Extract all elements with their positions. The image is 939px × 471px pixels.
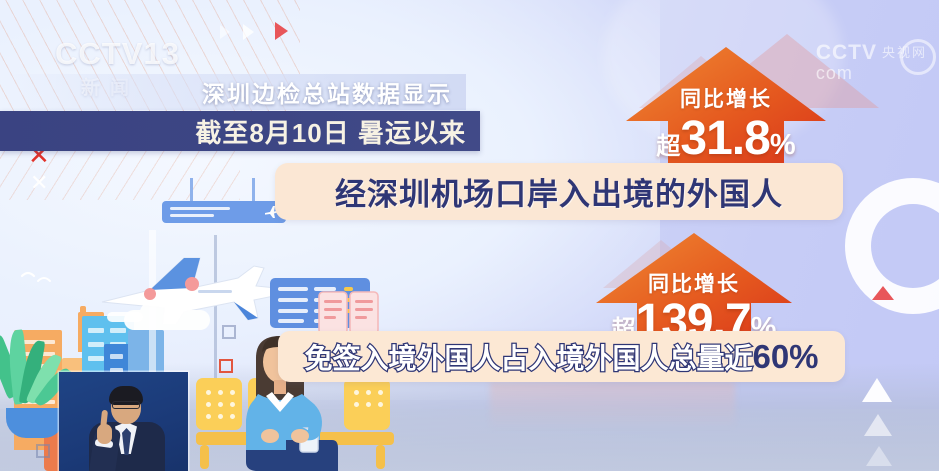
sign-post-left xyxy=(190,178,193,202)
square-decoration-red xyxy=(219,359,233,373)
cctv-logo-text: CCTV13 xyxy=(55,38,235,69)
period-title-text: 截至8月10日 暑运以来 xyxy=(195,113,466,150)
stat-arrow-1: 同比增长 超 31.8 % xyxy=(626,47,826,169)
stat-arrow-2-label: 同比增长 xyxy=(648,268,740,298)
stat-arrow-1-label: 同比增长 xyxy=(680,83,772,113)
watermark-ring-icon xyxy=(900,39,936,75)
summary-banner-number: 60% xyxy=(752,338,818,376)
news-anchor-inset xyxy=(59,372,188,471)
triangle-white-up-icon-2 xyxy=(864,414,892,436)
sign-post-right xyxy=(252,178,255,202)
stat-arrow-1-number: 31.8 xyxy=(680,115,769,163)
stat-arrow-1-value: 超 31.8 % xyxy=(656,115,795,163)
source-title-band: 深圳边检总站数据显示 xyxy=(0,74,466,110)
seat-leg xyxy=(376,445,385,469)
x-mark-white-icon: ✕ xyxy=(30,172,48,194)
source-title-text: 深圳边检总站数据显示 xyxy=(202,75,452,109)
headline-box: 经深圳机场口岸入出境的外国人 xyxy=(275,163,843,220)
triangle-white-up-icon xyxy=(862,378,892,402)
triangle-white-up-icon-3 xyxy=(866,446,892,466)
cloud-small xyxy=(107,312,143,322)
triangle-white-right-icon xyxy=(243,24,254,40)
triangle-red-right-icon xyxy=(275,22,288,40)
stat-arrow-1-labels: 同比增长 超 31.8 % xyxy=(626,47,826,169)
cctv-wordmark: CCTV xyxy=(55,36,143,71)
channel-number: 13 xyxy=(143,38,179,69)
plant-pot xyxy=(6,408,64,438)
period-title-band: 截至8月10日 暑运以来 xyxy=(0,111,480,151)
sign-text-line xyxy=(170,214,214,217)
square-decoration xyxy=(222,325,236,339)
sign-text-line xyxy=(170,207,230,210)
triangle-white-right-icon-2 xyxy=(220,25,230,39)
airport-sign xyxy=(162,201,286,223)
seat-back xyxy=(344,378,390,430)
triangle-red-up-icon xyxy=(872,286,894,300)
broadcast-graphic: ✕ ✕ CCTV13 新闻 CCTV com 央视网 深圳边检总站数据显示 截至… xyxy=(0,0,939,471)
summary-banner-text: 免签入境外国人占入境外国人总量近 xyxy=(304,337,752,377)
headline-text: 经深圳机场口岸入出境的外国人 xyxy=(335,169,783,214)
stat-arrow-1-unit: % xyxy=(770,129,796,162)
seat-leg xyxy=(200,445,209,469)
anchor-glasses-icon xyxy=(112,401,140,409)
summary-banner: 免签入境外国人占入境外国人总量近60% xyxy=(278,331,845,382)
cctv-com-watermark: CCTV com 央视网 xyxy=(816,42,927,83)
ghost-rectangle-decoration xyxy=(490,382,735,428)
square-decoration xyxy=(36,444,50,458)
stat-arrow-1-prefix: 超 xyxy=(656,126,680,161)
birds-icon xyxy=(20,266,64,286)
